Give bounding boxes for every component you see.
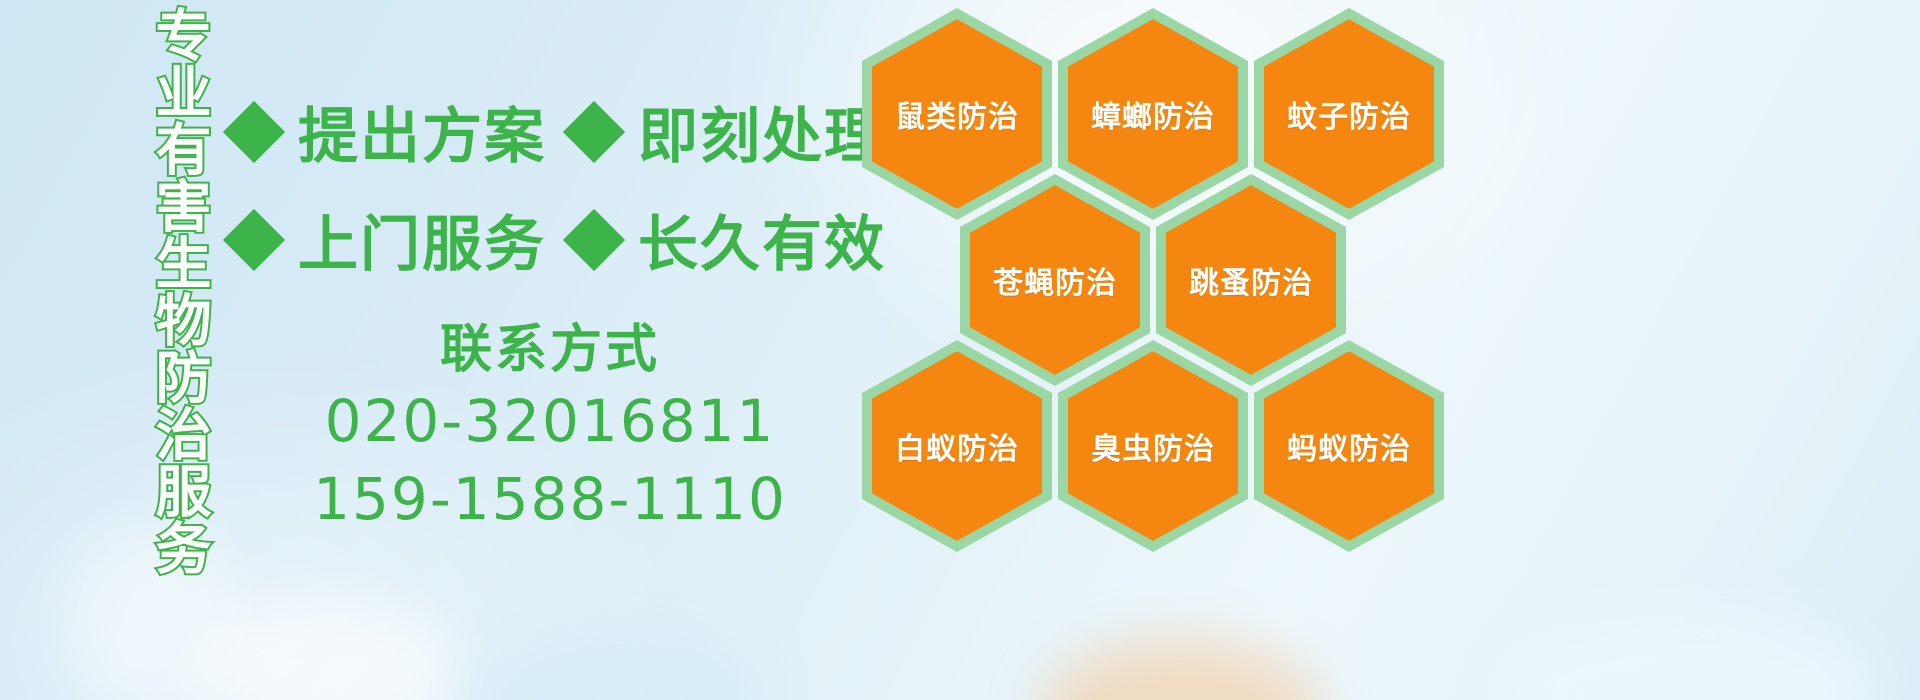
- contact-title: 联系方式: [270, 318, 830, 383]
- service-hexagon-grid: 鼠类防治 蟑螂防治 蚊子防治 苍蝇防治 跳蚤防治 白蚁防治: [862, 0, 1462, 560]
- feature-label-onsite-service: 上门服务: [298, 196, 546, 283]
- hex-label-bedbug-control: 臭虫防治: [1058, 340, 1248, 552]
- diamond-icon: [223, 208, 285, 270]
- background-bokeh-blob: [200, 600, 460, 700]
- background-bokeh-blob: [470, 630, 770, 700]
- hex-label-ant-control: 蚂蚁防治: [1254, 340, 1444, 552]
- diamond-icon: [223, 100, 285, 162]
- feature-label-propose-plan: 提出方案: [298, 88, 546, 175]
- background-bokeh-blob: [1040, 640, 1320, 700]
- background-bokeh-blob: [1500, 610, 1880, 700]
- hex-label-termite-control: 白蚁防治: [862, 340, 1052, 552]
- feature-row-2: 上门服务 长久有效: [232, 196, 886, 283]
- contact-block: 联系方式 020-32016811 159-1588-1110: [270, 318, 830, 538]
- vertical-headline: 专业有害生物防治服务: [108, 6, 206, 566]
- hex-tile-bedbug-control[interactable]: 臭虫防治: [1058, 340, 1248, 552]
- phone-number-landline[interactable]: 020-32016811: [270, 383, 830, 461]
- diamond-icon: [563, 208, 625, 270]
- feature-label-immediate-handling: 即刻处理: [638, 88, 886, 175]
- pest-control-banner: 专业有害生物防治服务 提出方案 即刻处理 上门服务 长久有效 联系方式 020-…: [0, 0, 1920, 700]
- feature-row-1: 提出方案 即刻处理: [232, 88, 886, 175]
- hex-tile-termite-control[interactable]: 白蚁防治: [862, 340, 1052, 552]
- diamond-icon: [563, 100, 625, 162]
- feature-label-long-lasting: 长久有效: [638, 196, 886, 283]
- phone-number-mobile[interactable]: 159-1588-1110: [270, 461, 830, 539]
- hex-tile-ant-control[interactable]: 蚂蚁防治: [1254, 340, 1444, 552]
